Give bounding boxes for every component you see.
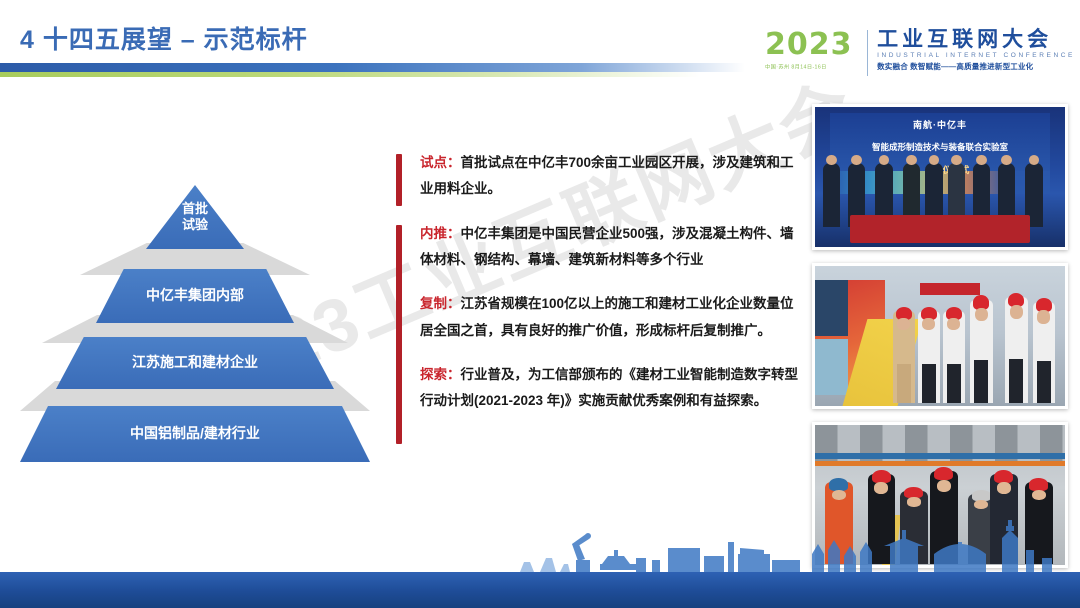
logo-year-block: 2023 中国·苏州 8月14日-16日 bbox=[765, 28, 867, 71]
photo-factory-walkthrough bbox=[812, 422, 1068, 568]
pyramid-level-4[interactable]: 中国铝制品/建材行业 bbox=[20, 406, 370, 462]
photo2-person bbox=[970, 300, 993, 404]
header-rule-accent bbox=[0, 72, 700, 77]
bullet-body-1: 首批试点在中亿丰700余亩工业园区开展，涉及建筑和工业用料企业。 bbox=[420, 155, 794, 196]
photo3-orange-beam bbox=[815, 461, 1065, 465]
photo3-person bbox=[825, 482, 853, 563]
bullet-text-2: 内推：中亿丰集团是中国民营企业500强，涉及混凝土构件、墙体材料、钢结构、幕墙、… bbox=[420, 221, 801, 274]
bullet-keyword-4: 探索： bbox=[420, 367, 461, 382]
bullet-list: 试点：首批试点在中亿丰700余亩工业园区开展，涉及建筑和工业用料企业。 内推：中… bbox=[396, 150, 801, 433]
bullet-text-1: 试点：首批试点在中亿丰700余亩工业园区开展，涉及建筑和工业用料企业。 bbox=[420, 150, 801, 203]
pyramid-level-3-label: 江苏施工和建材企业 bbox=[132, 354, 258, 372]
bullet-item-3: 复制：江苏省规模在100亿以上的施工和建材工业化企业数量位居全国之首，具有良好的… bbox=[396, 291, 801, 344]
photo3-person bbox=[868, 474, 896, 564]
logo-year-subtitle: 中国·苏州 8月14日-16日 bbox=[765, 63, 862, 71]
photo2-person bbox=[943, 311, 966, 403]
header-rule bbox=[0, 63, 745, 72]
conference-logo: 2023 中国·苏州 8月14日-16日 工业互联网大会 INDUSTRIAL … bbox=[765, 28, 1075, 80]
photo2-red-banner bbox=[920, 283, 980, 296]
photo-site-visit bbox=[812, 263, 1068, 409]
bullet-item-1: 试点：首批试点在中亿丰700余亩工业园区开展，涉及建筑和工业用料企业。 bbox=[396, 150, 801, 203]
bullet-keyword-1: 试点： bbox=[420, 155, 461, 170]
photo1-banner-line1: 南航·中亿丰 bbox=[815, 118, 1065, 131]
logo-tagline: 数实融合 数智赋能——高质量推进新型工业化 bbox=[877, 61, 1075, 72]
photo3-person bbox=[930, 471, 958, 563]
photo1-signing-table bbox=[850, 215, 1030, 243]
bullet-bar-4 bbox=[396, 366, 402, 444]
bullet-item-2: 内推：中亿丰集团是中国民营企业500强，涉及混凝土构件、墙体材料、钢结构、幕墙、… bbox=[396, 221, 801, 274]
page-title: 4 十四五展望 – 示范标杆 bbox=[20, 20, 308, 56]
logo-divider bbox=[867, 30, 868, 76]
photo2-display-board-bottom bbox=[815, 339, 848, 395]
photo2-display-board-top bbox=[815, 280, 848, 336]
pyramid-level-4-label: 中国铝制品/建材行业 bbox=[130, 425, 260, 443]
pyramid-level-2[interactable]: 中亿丰集团内部 bbox=[96, 269, 294, 323]
pyramid-level-1-label: 首批试验 bbox=[182, 201, 208, 234]
photo3-person bbox=[990, 474, 1018, 564]
bullet-bar-1 bbox=[396, 154, 402, 206]
bullet-body-4: 行业普及，为工信部颁布的《建材工业智能制造数字转型行动计划(2021-2023 … bbox=[420, 367, 798, 408]
photo3-person bbox=[900, 491, 928, 564]
photo1-person bbox=[823, 163, 841, 227]
footer-band bbox=[0, 572, 1080, 608]
photo3-blue-beam bbox=[815, 453, 1065, 459]
bullet-keyword-2: 内推： bbox=[420, 226, 461, 241]
pyramid-diagram: 首批试验 中亿丰集团内部 江苏施工和建材企业 中国铝制品/建材行业 bbox=[20, 185, 370, 490]
photo2-person bbox=[1033, 302, 1056, 403]
logo-name-cn: 工业互联网大会 bbox=[877, 29, 1075, 51]
logo-year: 2023 bbox=[765, 30, 867, 60]
photo1-banner-line2: 智能成形制造技术与装备联合实验室 bbox=[815, 141, 1065, 153]
bullet-keyword-3: 复制： bbox=[420, 296, 461, 311]
pyramid-level-3[interactable]: 江苏施工和建材企业 bbox=[56, 337, 334, 389]
photo2-person bbox=[893, 311, 916, 403]
bullet-text-3: 复制：江苏省规模在100亿以上的施工和建材工业化企业数量位居全国之首，具有良好的… bbox=[420, 291, 801, 344]
bullet-body-2: 中亿丰集团是中国民营企业500强，涉及混凝土构件、墙体材料、钢结构、幕墙、建筑新… bbox=[420, 226, 794, 267]
pyramid-level-2-label: 中亿丰集团内部 bbox=[146, 287, 244, 305]
photo-signing-ceremony: 南航·中亿丰 智能成形制造技术与装备联合实验室 签 约 仪 式 bbox=[812, 104, 1068, 250]
bullet-text-4: 探索：行业普及，为工信部颁布的《建材工业智能制造数字转型行动计划(2021-20… bbox=[420, 362, 801, 415]
logo-text-block: 工业互联网大会 INDUSTRIAL INTERNET CONFERENCE 数… bbox=[877, 28, 1075, 72]
photo3-person bbox=[1025, 482, 1053, 563]
logo-name-en: INDUSTRIAL INTERNET CONFERENCE bbox=[877, 52, 1075, 59]
pyramid-level-1[interactable]: 首批试验 bbox=[146, 185, 244, 249]
slide-canvas: 4 十四五展望 – 示范标杆 2023 中国·苏州 8月14日-16日 工业互联… bbox=[0, 0, 1080, 608]
bullet-body-3: 江苏省规模在100亿以上的施工和建材工业化企业数量位居全国之首，具有良好的推广价… bbox=[420, 296, 794, 337]
photo2-person bbox=[918, 311, 941, 403]
bullet-item-4: 探索：行业普及，为工信部颁布的《建材工业智能制造数字转型行动计划(2021-20… bbox=[396, 362, 801, 415]
photo2-person bbox=[1005, 297, 1028, 403]
